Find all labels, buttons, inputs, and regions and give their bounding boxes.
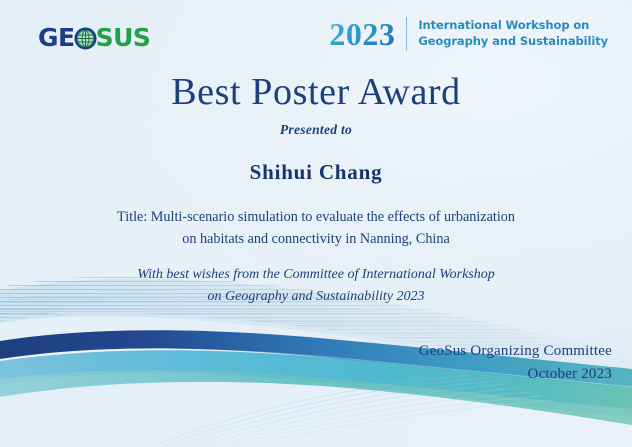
best-wishes-line2: on Geography and Sustainability 2023 [0,286,632,308]
certificate: GE SUS 2023 [0,0,632,447]
issue-date: October 2023 [419,363,612,386]
logo-wordmark: GE SUS [38,25,150,50]
vertical-divider [406,17,407,50]
logo-prefix: GE [38,25,75,50]
event-branding: 2023 International Workshop on Geography… [329,17,608,50]
event-year: 2023 [329,18,395,50]
geosus-logo: GE SUS [38,22,150,52]
workshop-name-line2: Geography and Sustainability [418,34,608,49]
issuing-committee: GeoSus Organizing Committee [419,340,612,363]
award-title: Best Poster Award [0,73,632,113]
best-wishes-message: With best wishes from the Committee of I… [0,264,632,309]
poster-title: Title: Multi-scenario simulation to eval… [0,206,632,250]
recipient-name: Shihui Chang [0,160,632,185]
poster-title-line2: on habitats and connectivity in Nanning,… [0,228,632,250]
best-wishes-line1: With best wishes from the Committee of I… [0,264,632,286]
logo-suffix: SUS [96,25,151,50]
globe-icon [74,27,97,50]
workshop-name-line1: International Workshop on [418,18,608,33]
workshop-name: International Workshop on Geography and … [418,18,608,49]
signature-block: GeoSus Organizing Committee October 2023 [419,340,612,387]
poster-title-line1: Title: Multi-scenario simulation to eval… [0,206,632,228]
presented-to-label: Presented to [0,122,632,138]
